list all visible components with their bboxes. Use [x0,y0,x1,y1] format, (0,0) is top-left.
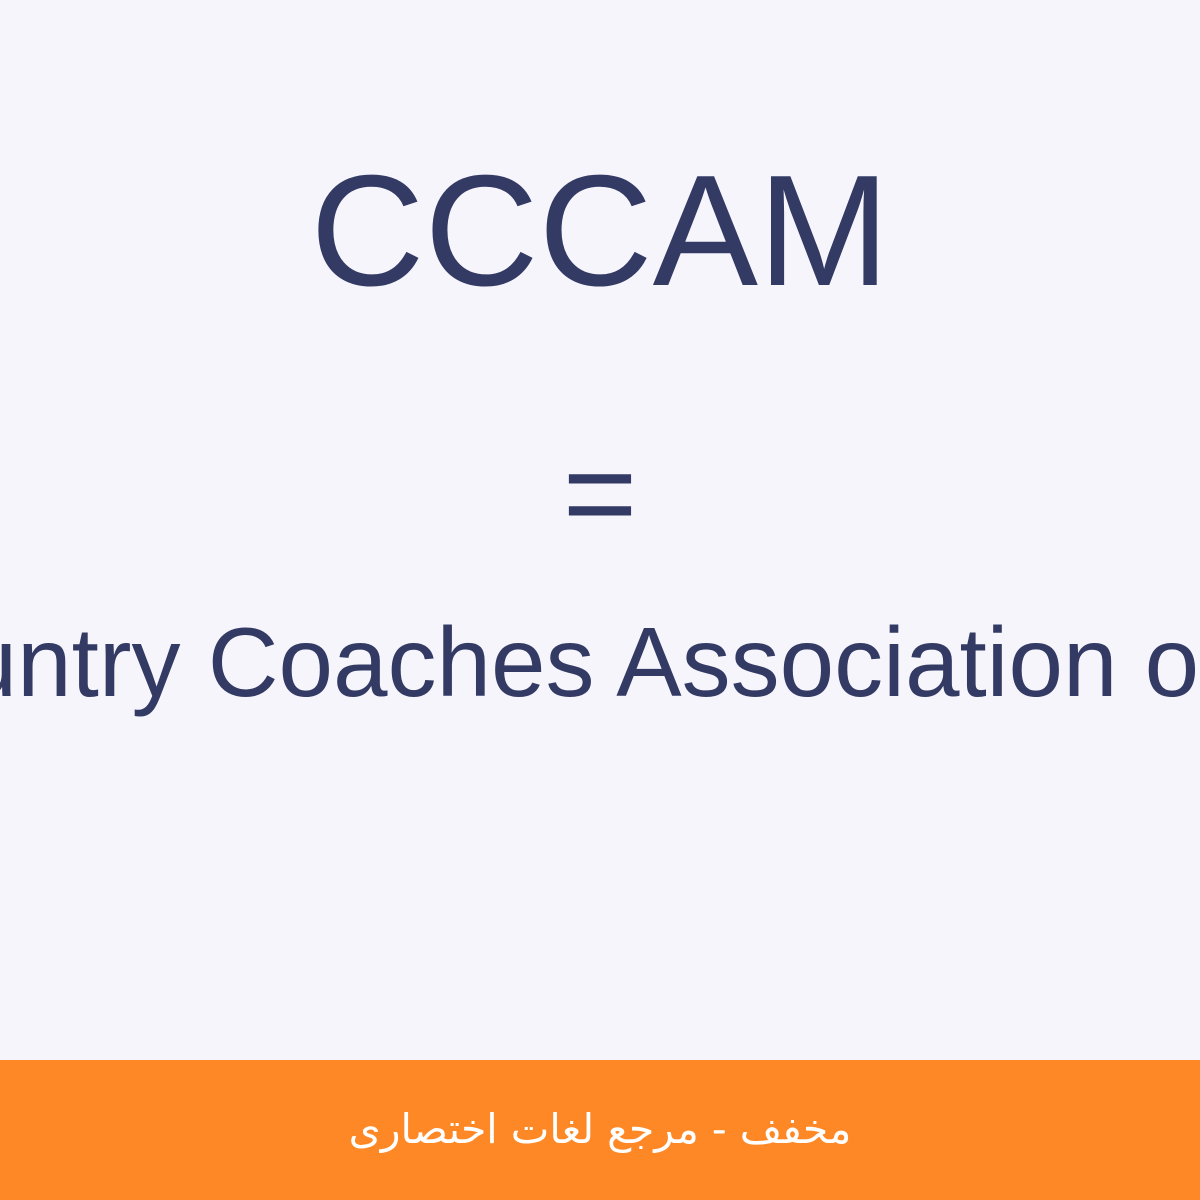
acronym-expansion: Cross Country Coaches Association of Mic… [0,603,1200,723]
expansion-row: Cross Country Coaches Association of Mic… [0,598,1200,728]
site-footer-label: مخفف - مرجع لغات اختصاری [349,1103,852,1156]
site-footer-band: مخفف - مرجع لغات اختصاری [0,1060,1200,1200]
acronym-definition-card: CCCAM = Cross Country Coaches Associatio… [0,0,1200,1060]
equals-symbol: = [0,430,1200,558]
acronym-title: CCCAM [0,152,1200,310]
